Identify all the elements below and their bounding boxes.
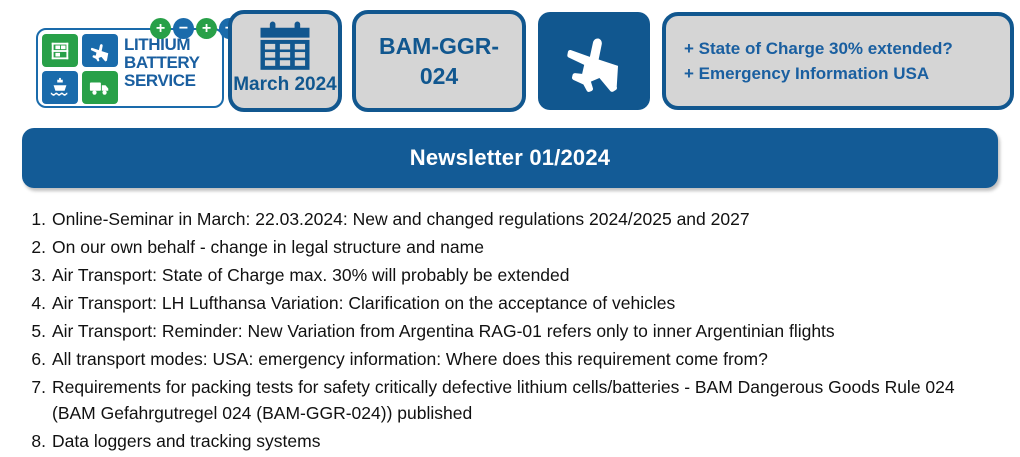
logo-word-line-3: SERVICE	[124, 72, 228, 90]
list-item-number: 2.	[22, 234, 52, 260]
bam-ggr-024-card[interactable]: BAM-GGR-024	[352, 10, 526, 112]
page-title: Newsletter 01/2024	[410, 145, 611, 171]
list-item[interactable]: 2. On our own behalf - change in legal s…	[22, 234, 998, 262]
lithium-battery-service-logo: LITHIUM BATTERY SERVICE + − + −	[28, 10, 224, 110]
list-item[interactable]: 1. Online-Seminar in March: 22.03.2024: …	[22, 206, 998, 234]
truck-icon	[82, 71, 118, 104]
logo-word-line-2: BATTERY	[124, 54, 228, 72]
highlight-line-2: + Emergency Information USA	[684, 61, 929, 86]
list-item-text: Requirements for packing tests for safet…	[52, 374, 998, 426]
list-item-text: Air Transport: Reminder: New Variation f…	[52, 318, 998, 344]
list-item-text: Data loggers and tracking systems	[52, 428, 998, 454]
list-item-number: 4.	[22, 290, 52, 316]
plus-badge-icon-2: +	[196, 18, 217, 39]
ship-icon	[42, 71, 78, 104]
bam-ggr-024-label: BAM-GGR-024	[356, 31, 522, 91]
calendar-card-label: March 2024	[233, 74, 337, 96]
list-item-number: 8.	[22, 428, 52, 454]
plus-badge-icon: +	[150, 18, 171, 39]
highlight-line-1: + State of Charge 30% extended?	[684, 36, 953, 61]
list-item-text: Online-Seminar in March: 22.03.2024: New…	[52, 206, 998, 232]
highlights-card[interactable]: + State of Charge 30% extended? + Emerge…	[662, 12, 1014, 110]
calendar-icon	[257, 20, 313, 72]
logo-wordmark: LITHIUM BATTERY SERVICE	[124, 36, 228, 90]
list-item[interactable]: 7. Requirements for packing tests for sa…	[22, 374, 998, 428]
newsletter-contents-list: 1. Online-Seminar in March: 22.03.2024: …	[22, 206, 998, 456]
list-item[interactable]: 4. Air Transport: LH Lufthansa Variation…	[22, 290, 998, 318]
list-item-number: 5.	[22, 318, 52, 344]
logo-transport-tiles	[42, 34, 118, 104]
calendar-card[interactable]: March 2024	[228, 10, 342, 112]
warehouse-rack-icon	[42, 34, 78, 67]
list-item[interactable]: 6. All transport modes: USA: emergency i…	[22, 346, 998, 374]
list-item[interactable]: 5. Air Transport: Reminder: New Variatio…	[22, 318, 998, 346]
list-item-text: Air Transport: State of Charge max. 30% …	[52, 262, 998, 288]
list-item-text: On our own behalf - change in legal stru…	[52, 234, 998, 260]
list-item-number: 7.	[22, 374, 52, 400]
list-item-number: 3.	[22, 262, 52, 288]
header-strip: LITHIUM BATTERY SERVICE + − + −	[0, 0, 1020, 120]
list-item[interactable]: 8. Data loggers and tracking systems	[22, 428, 998, 456]
minus-badge-icon: −	[173, 18, 194, 39]
list-item-text: All transport modes: USA: emergency info…	[52, 346, 998, 372]
logo-polarity-badges: + − + −	[150, 18, 240, 39]
airplane-icon	[563, 30, 625, 92]
list-item-number: 6.	[22, 346, 52, 372]
airplane-icon	[82, 34, 118, 67]
newsletter-banner: Newsletter 01/2024	[22, 128, 998, 188]
list-item-number: 1.	[22, 206, 52, 232]
list-item-text: Air Transport: LH Lufthansa Variation: C…	[52, 290, 998, 316]
air-transport-card[interactable]	[538, 12, 650, 110]
list-item[interactable]: 3. Air Transport: State of Charge max. 3…	[22, 262, 998, 290]
